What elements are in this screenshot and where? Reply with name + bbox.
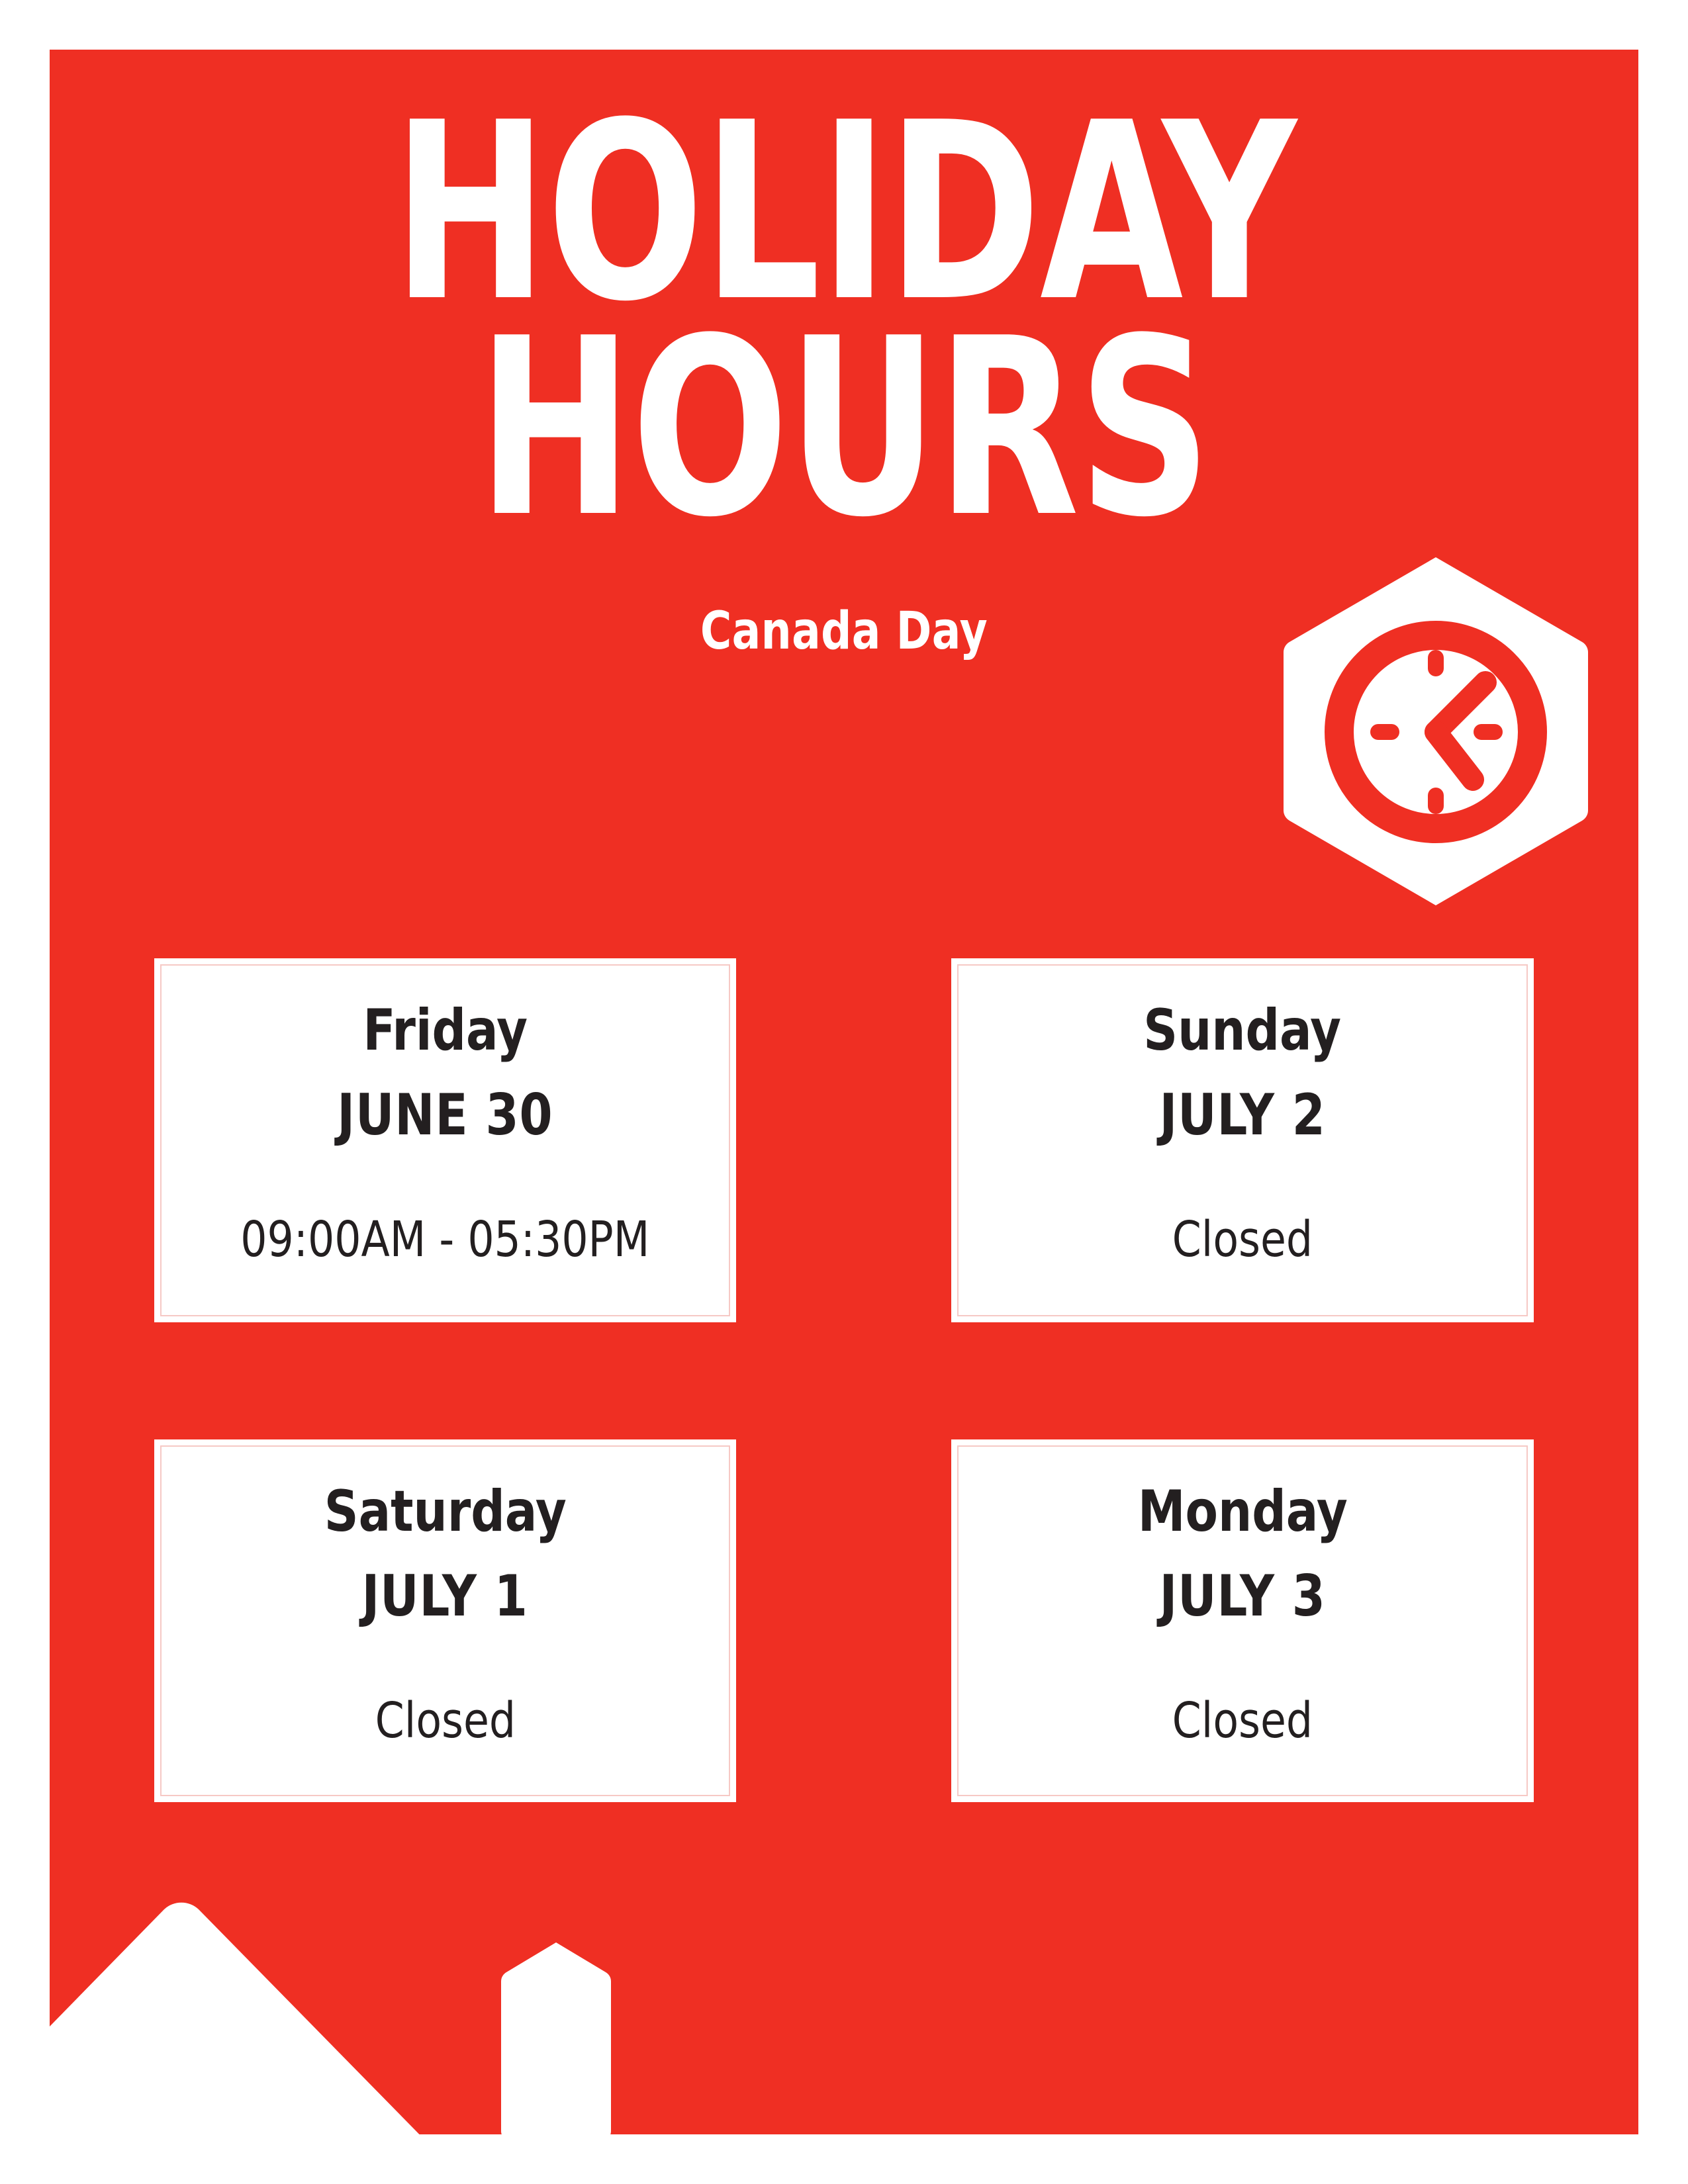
hours-card[interactable]: Sunday JULY 2 Closed bbox=[951, 958, 1534, 1322]
card-day-label: Monday bbox=[1138, 1483, 1348, 1540]
card-hours-label: Closed bbox=[375, 1696, 515, 1745]
card-hours-label: Closed bbox=[1172, 1215, 1313, 1264]
card-hours-label: Closed bbox=[1172, 1696, 1313, 1745]
holiday-hours-poster: HOLIDAY HOURS Canada Day Friday JUNE 30 … bbox=[0, 0, 1688, 2184]
bottom-margin-band bbox=[0, 2134, 1688, 2184]
hours-card-inner: Friday JUNE 30 09:00AM - 05:30PM bbox=[160, 964, 730, 1316]
card-date-label: JUNE 30 bbox=[337, 1087, 553, 1144]
hours-card-inner: Sunday JULY 2 Closed bbox=[957, 964, 1528, 1316]
card-day-label: Friday bbox=[363, 1002, 528, 1059]
card-day-label: Sunday bbox=[1144, 1002, 1342, 1059]
hours-card[interactable]: Monday JULY 3 Closed bbox=[951, 1439, 1534, 1802]
hours-card-inner: Monday JULY 3 Closed bbox=[957, 1445, 1528, 1796]
clock-icon bbox=[1283, 555, 1589, 908]
card-hours-label: 09:00AM - 05:30PM bbox=[240, 1215, 649, 1264]
card-day-label: Saturday bbox=[324, 1483, 566, 1540]
hours-card[interactable]: Saturday JULY 1 Closed bbox=[154, 1439, 736, 1802]
card-date-label: JULY 2 bbox=[1159, 1087, 1325, 1144]
card-date-label: JULY 1 bbox=[362, 1568, 528, 1625]
card-date-label: JULY 3 bbox=[1159, 1568, 1325, 1625]
hours-card-inner: Saturday JULY 1 Closed bbox=[160, 1445, 730, 1796]
page-title: HOLIDAY HOURS bbox=[177, 106, 1511, 537]
hours-card[interactable]: Friday JUNE 30 09:00AM - 05:30PM bbox=[154, 958, 736, 1322]
title-line-2: HOURS bbox=[177, 322, 1511, 537]
